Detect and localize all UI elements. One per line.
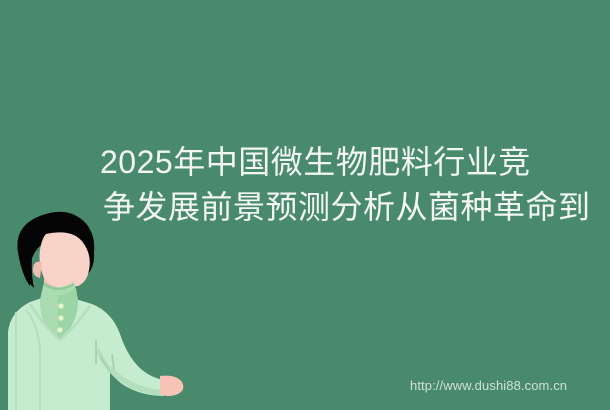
title-line-1: 2025年中国微生物肥料行业竞	[100, 140, 590, 185]
ear-shape	[33, 262, 42, 278]
collar-button-1	[58, 303, 63, 308]
page-title: 2025年中国微生物肥料行业竞 争发展前景预测分析从菌种革命到	[100, 140, 590, 230]
watermark-url: http://www.dushi88.com.cn	[410, 378, 567, 394]
promo-banner: 2025年中国微生物肥料行业竞 争发展前景预测分析从菌种革命到 http://w…	[0, 0, 610, 410]
person-illustration	[0, 200, 200, 410]
collar-button-3	[57, 327, 62, 332]
collar-button-2	[58, 315, 63, 320]
hand-shape	[160, 376, 183, 396]
title-line-2: 争发展前景预测分析从菌种革命到	[100, 185, 590, 230]
